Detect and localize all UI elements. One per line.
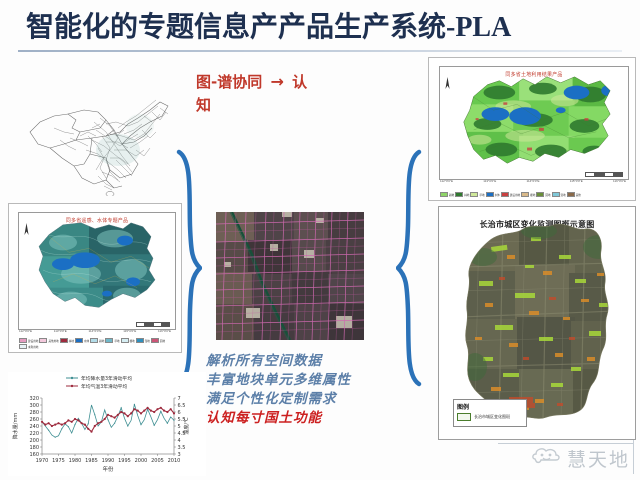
data-point (81, 422, 83, 424)
axis-tick: 113°0'0"E (483, 179, 496, 183)
data-point (170, 408, 172, 410)
data-point (90, 431, 92, 433)
data-point (77, 419, 79, 421)
legend-label: 林地 (69, 339, 74, 343)
legend-item: 建设用地 (501, 192, 520, 197)
concept-label-cognition-2: 知 (196, 96, 211, 114)
data-point (74, 418, 76, 420)
y-axis-tick: 280 (29, 410, 39, 416)
y2-axis-tick: 7 (178, 396, 181, 402)
handwriting-annotations: 解析所有空间数据 丰富地块单元多维属性 满足个性化定制需求 认知每寸国土功能 (206, 352, 386, 428)
x-axis-tick: 2005 (151, 458, 164, 464)
data-point (167, 423, 168, 424)
legend-item: 裸地 (121, 338, 135, 343)
y-axis-tick: 260 (29, 417, 39, 423)
map-tr-legend: 耕地林地草地水体建设用地裸地园地湿地其他 (440, 192, 624, 197)
y-axis-tick: 240 (29, 424, 39, 430)
legend-label: 建设用地 (510, 193, 520, 197)
y2-axis-tick: 4 (178, 438, 181, 444)
data-point (55, 437, 56, 438)
map-panel-landuse: 同多省土地利用结果产品 (428, 57, 636, 201)
watermark-text: 慧天地 (567, 445, 630, 472)
brace-right (396, 148, 422, 388)
data-point (100, 421, 102, 423)
data-point (48, 430, 49, 431)
legend-swatch (501, 192, 509, 197)
data-point (71, 421, 73, 423)
legend-item: 建设用地 (19, 338, 38, 343)
data-point (120, 411, 122, 413)
data-point (140, 412, 142, 414)
legend-item: 草地 (105, 338, 119, 343)
map-br-legend-box: 图例 长治市城区变化图斑 (453, 399, 527, 427)
x-axis-tick: 1995 (118, 458, 131, 464)
y2-axis-tick: 3.5 (178, 445, 186, 451)
brace-left (176, 148, 202, 388)
x-axis-label: 年份 (103, 465, 114, 473)
data-point (156, 408, 158, 410)
legend-item: 其他用地 (39, 338, 58, 343)
legend-item: 湿地 (136, 338, 150, 343)
legend-label: 水体 (84, 339, 89, 343)
y-axis-tick: 180 (29, 445, 39, 451)
data-point (94, 414, 95, 415)
axis-tick: 114°0'0"E (89, 329, 102, 333)
legend-label: 草地 (114, 339, 119, 343)
x-axis-tick: 2000 (135, 458, 148, 464)
legend-label: 未利用地 (28, 345, 38, 349)
data-point (94, 425, 96, 427)
map-plot-area: 同多省土地利用结果产品 (439, 66, 629, 180)
y2-axis-tick: 5 (178, 424, 181, 430)
legend-row: 长治市城区变化图斑 (457, 413, 510, 421)
watermark-divider-h (498, 443, 634, 444)
data-point (67, 419, 69, 421)
handwriting-line-3: 满足个性化定制需求 (206, 390, 386, 409)
legend-swatch (60, 338, 68, 343)
data-point (121, 407, 122, 408)
data-point (173, 420, 174, 421)
map-left-x-ticks: 112°0'0"E113°0'0"E114°0'0"E115°0'0"E116°… (19, 329, 171, 333)
legend-label: 水体 (495, 193, 500, 197)
x-axis-tick: 1980 (69, 458, 82, 464)
axis-tick: 116°0'0"E (613, 179, 626, 183)
legend-item: 水体 (75, 338, 89, 343)
data-point (154, 425, 155, 426)
legend-label: 其他 (576, 193, 581, 197)
data-point (127, 415, 129, 417)
legend-item: 水体 (486, 192, 500, 197)
map-left-legend: 建设用地其他用地林地水体耕地草地裸地湿地园地未利用地 (19, 338, 169, 349)
data-point (153, 411, 155, 413)
legend-item: 湿地 (552, 192, 566, 197)
satellite-parcel-image (216, 212, 364, 340)
data-point (88, 423, 89, 424)
data-point (44, 424, 46, 426)
handwriting-line-2: 丰富地块单元多维属性 (206, 371, 386, 390)
map-panel-change-detection: 长治市城区变化监测图斑示意图 (438, 206, 636, 440)
data-point (133, 408, 135, 410)
legend-swatch (105, 338, 113, 343)
data-point (127, 425, 128, 426)
axis-tick: 115°0'0"E (570, 179, 583, 183)
legend-label: 长治市城区变化图斑 (474, 414, 510, 420)
china-road-network-map (10, 92, 180, 196)
page-title: 智能化的专题信息产产品生产系统-PLA (26, 8, 616, 48)
y2-axis-label: 温度/℃ (183, 417, 190, 435)
legend-swatch (521, 192, 529, 197)
legend-swatch (455, 192, 463, 197)
data-point (140, 424, 141, 425)
legend-item: 耕地 (90, 338, 104, 343)
data-point (64, 422, 66, 424)
legend-swatch (90, 338, 98, 343)
legend-label: 其他用地 (48, 339, 58, 343)
x-axis-tick: 1990 (102, 458, 115, 464)
data-point (104, 418, 106, 420)
concept-label-cognition-1: 认 (292, 73, 307, 91)
title-divider (18, 50, 622, 52)
legend-label: 耕地 (449, 193, 454, 197)
map-panel-water-theme: 同多省遥感、水体专题产品 (8, 203, 182, 353)
smiley-cloud-icon (531, 445, 561, 472)
y2-axis-tick: 6 (178, 410, 181, 416)
handwriting-line-4: 认知每寸国土功能 (206, 409, 386, 428)
legend-swatch (19, 344, 27, 349)
legend-label: 耕地 (99, 339, 104, 343)
x-axis-tick: 1970 (36, 458, 49, 464)
data-point (57, 422, 59, 424)
y-axis-label: 降水量/mm (12, 413, 19, 440)
data-point (166, 411, 168, 413)
data-point (123, 412, 125, 414)
data-point (134, 404, 135, 405)
legend-item: 未利用地 (19, 344, 38, 349)
axis-tick: 112°0'0"E (19, 329, 32, 333)
map-plot-area: 同多省遥感、水体专题产品 (18, 212, 176, 330)
legend-label: 裸地 (130, 339, 135, 343)
legend-label: 湿地 (561, 193, 566, 197)
scale-bar (585, 172, 623, 175)
data-point (84, 424, 86, 426)
data-point (143, 410, 145, 412)
legend-label: 园地 (545, 193, 550, 197)
legend-swatch (440, 192, 448, 197)
y-axis-tick: 300 (29, 403, 39, 409)
climate-line-chart: 16018020022024026028030032033.544.555.56… (8, 372, 206, 476)
y-axis-tick: 320 (29, 396, 39, 402)
data-point (160, 411, 161, 412)
legend-label: 年均气温3年滑动平均 (81, 383, 127, 390)
data-point (48, 422, 50, 424)
data-point (114, 423, 115, 424)
data-point (61, 424, 63, 426)
watermark-divider-v (633, 440, 634, 474)
data-point (41, 421, 43, 423)
legend-swatch (75, 338, 83, 343)
data-point (97, 422, 99, 424)
concept-label-graph-spectrum: 图-谱协同 (196, 73, 262, 91)
data-point (163, 410, 165, 412)
y-axis-tick: 160 (29, 452, 39, 458)
data-point (117, 414, 119, 416)
legend-item: 林地 (60, 338, 74, 343)
y-axis-tick: 200 (29, 438, 39, 444)
legend-swatch (19, 338, 27, 343)
legend-label: 裸地 (530, 193, 535, 197)
legend-label: 建设用地 (28, 339, 38, 343)
arrow-right-icon: → (267, 72, 286, 91)
x-axis-tick: 1975 (52, 458, 65, 464)
legend-label: 园地 (160, 339, 165, 343)
data-point (54, 424, 56, 426)
legend-swatch (457, 413, 471, 421)
axis-tick: 113°0'0"E (54, 329, 67, 333)
slide-canvas: 智能化的专题信息产产品生产系统-PLA 图-谱协同 → 认 知 (0, 0, 640, 480)
data-point (51, 425, 53, 427)
x-axis-tick: 1985 (85, 458, 98, 464)
legend-item: 裸地 (521, 192, 535, 197)
series-line (42, 404, 174, 437)
legend-swatch (536, 192, 544, 197)
legend-swatch (151, 338, 159, 343)
y2-axis-tick: 6.5 (178, 403, 186, 409)
handwriting-line-1: 解析所有空间数据 (206, 352, 386, 371)
scale-bar (136, 322, 170, 325)
data-point (107, 414, 109, 416)
axis-tick: 116°0'0"E (158, 329, 171, 333)
axis-tick: 114°0'0"E (527, 179, 540, 183)
legend-swatch (121, 338, 129, 343)
legend-item: 园地 (536, 192, 550, 197)
data-point (107, 419, 108, 420)
data-point (150, 410, 152, 412)
data-point (137, 410, 139, 412)
concept-annotation: 图-谱协同 → 认 知 (196, 70, 346, 117)
data-point (114, 417, 116, 419)
data-point (130, 412, 132, 414)
legend-label: 林地 (464, 193, 469, 197)
data-point (74, 424, 75, 425)
legend-item: 其他 (567, 192, 581, 197)
y-axis-tick: 220 (29, 431, 39, 437)
legend-label: 湿地 (145, 339, 150, 343)
legend-item: 园地 (151, 338, 165, 343)
axis-tick: 115°0'0"E (123, 329, 136, 333)
axis-tick: 112°0'0"E (440, 179, 453, 183)
legend-swatch (486, 192, 494, 197)
y2-axis-tick: 3 (178, 452, 181, 458)
data-point (147, 407, 149, 409)
legend-label: 年均降水量3年滑动平均 (81, 375, 132, 382)
data-point (173, 412, 175, 414)
legend-swatch (136, 338, 144, 343)
data-point (110, 415, 112, 417)
data-point (87, 428, 89, 430)
data-point (61, 428, 62, 429)
legend-swatch (470, 192, 478, 197)
legend-swatch (552, 192, 560, 197)
legend-item: 林地 (455, 192, 469, 197)
map-tr-x-ticks: 112°0'0"E113°0'0"E114°0'0"E115°0'0"E116°… (440, 179, 626, 183)
data-point (160, 407, 162, 409)
x-axis-tick: 2010 (168, 458, 181, 464)
legend-item: 草地 (470, 192, 484, 197)
data-point (68, 426, 69, 427)
legend-swatch (567, 192, 575, 197)
legend-title: 图例 (457, 402, 469, 411)
legend-item: 耕地 (440, 192, 454, 197)
legend-swatch (39, 338, 47, 343)
watermark: 慧天地 (531, 445, 630, 472)
legend-label: 草地 (479, 193, 484, 197)
